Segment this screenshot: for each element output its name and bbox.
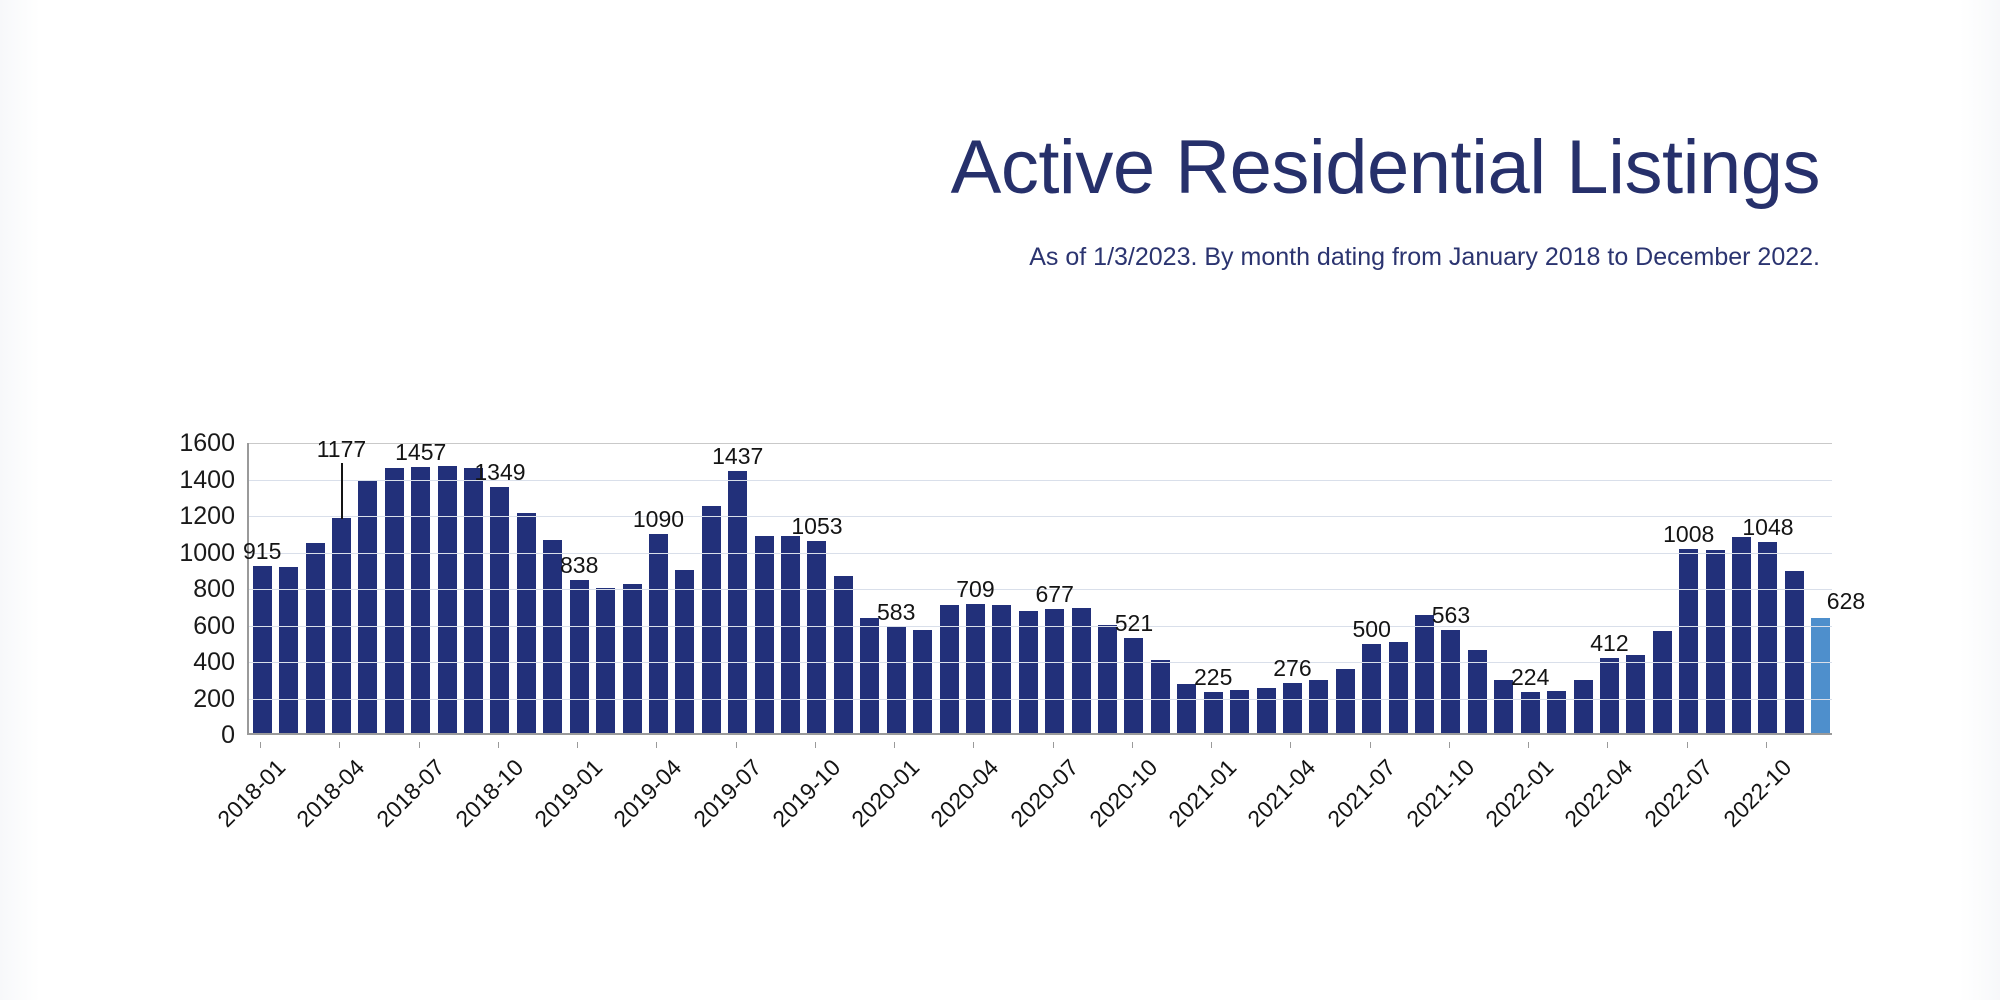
x-axis-tick-mark [973, 742, 974, 748]
x-axis-tick-label: 2022-04 [1560, 754, 1639, 833]
bar[interactable] [570, 580, 589, 733]
x-axis-tick-mark [1053, 742, 1054, 748]
bar[interactable] [913, 630, 932, 733]
bar[interactable] [1574, 680, 1593, 733]
bar-value-label: 500 [1353, 618, 1391, 641]
bar[interactable] [1415, 615, 1434, 733]
x-axis-tick-label: 2021-04 [1243, 754, 1322, 833]
x-axis-tick-label: 2021-01 [1164, 754, 1243, 833]
y-axis-tick-label: 800 [139, 577, 235, 602]
bar-value-label: 915 [243, 540, 281, 563]
bar[interactable] [411, 467, 430, 733]
x-axis-tick-label: 2020-01 [847, 754, 926, 833]
x-axis-tick-mark [1290, 742, 1291, 748]
bar-value-label: 1349 [474, 461, 525, 484]
y-axis-tick-label: 1000 [139, 541, 235, 566]
x-axis-tick-label: 2021-10 [1401, 754, 1480, 833]
bar[interactable] [755, 536, 774, 733]
bar[interactable] [1072, 608, 1091, 733]
bar[interactable] [438, 466, 457, 733]
x-axis-tick-mark [1370, 742, 1371, 748]
x-axis-tick-mark [419, 742, 420, 748]
x-axis-tick-label: 2019-10 [767, 754, 846, 833]
bar[interactable] [728, 471, 747, 733]
gridline [249, 553, 1832, 554]
y-axis-tick-label: 1600 [139, 431, 235, 456]
bar[interactable] [1706, 550, 1725, 733]
label-leader-line [341, 463, 343, 519]
bar-value-label: 563 [1432, 604, 1470, 627]
bar-value-label: 521 [1115, 612, 1153, 635]
x-axis-tick-label: 2018-07 [371, 754, 450, 833]
x-axis-tick-label: 2018-01 [213, 754, 292, 833]
bar-value-label: 412 [1590, 632, 1628, 655]
bar[interactable] [517, 513, 536, 733]
x-axis-tick-mark [577, 742, 578, 748]
bar[interactable] [1626, 655, 1645, 733]
x-axis-tick-mark [498, 742, 499, 748]
bar-highlighted[interactable] [1811, 618, 1830, 733]
bar[interactable] [596, 588, 615, 733]
x-axis-tick-mark [1687, 742, 1688, 748]
bar[interactable] [1124, 638, 1143, 733]
x-axis-tick-mark [339, 742, 340, 748]
gridline [249, 699, 1832, 700]
gridline [249, 443, 1832, 444]
x-axis-tick-label: 2022-07 [1639, 754, 1718, 833]
bar-value-label: 628 [1827, 590, 1865, 613]
gridline [249, 516, 1832, 517]
bar-value-label: 677 [1036, 583, 1074, 606]
bar[interactable] [649, 534, 668, 733]
bar[interactable] [1045, 609, 1064, 733]
bar[interactable] [279, 567, 298, 733]
x-axis-tick-label: 2022-10 [1718, 754, 1797, 833]
bar[interactable] [1441, 630, 1460, 733]
bar-value-label: 1008 [1663, 523, 1714, 546]
bar[interactable] [807, 541, 826, 733]
x-axis-tick-label: 2020-07 [1005, 754, 1084, 833]
x-axis-tick-mark [260, 742, 261, 748]
y-axis-tick-label: 1200 [139, 504, 235, 529]
gridline [249, 662, 1832, 663]
bar-value-label: 224 [1511, 666, 1549, 689]
bar-value-label: 276 [1273, 657, 1311, 680]
bar-value-label: 1457 [395, 441, 446, 464]
bar-value-label: 838 [560, 554, 598, 577]
bar[interactable] [834, 576, 853, 733]
bar-value-label: 225 [1194, 666, 1232, 689]
bar[interactable] [306, 543, 325, 733]
bar[interactable] [887, 627, 906, 733]
y-axis-tick-label: 400 [139, 650, 235, 675]
bar-value-label: 709 [956, 578, 994, 601]
x-axis-tick-label: 2019-01 [530, 754, 609, 833]
x-axis-tick-mark [815, 742, 816, 748]
bar[interactable] [385, 468, 404, 733]
x-axis-tick-label: 2019-04 [609, 754, 688, 833]
bar[interactable] [1679, 549, 1698, 733]
bar[interactable] [940, 605, 959, 733]
bar[interactable] [1600, 658, 1619, 733]
x-axis-tick-label: 2018-10 [450, 754, 529, 833]
bar[interactable] [860, 618, 879, 733]
bar[interactable] [675, 570, 694, 733]
bar[interactable] [1547, 691, 1566, 733]
x-axis-tick-mark [1211, 742, 1212, 748]
bar-value-label: 1177 [317, 438, 366, 461]
x-axis-tick-mark [894, 742, 895, 748]
x-axis-tick-label: 2020-10 [1084, 754, 1163, 833]
bar[interactable] [1758, 542, 1777, 733]
bar[interactable] [1019, 611, 1038, 733]
y-axis-tick-label: 0 [139, 723, 235, 748]
x-axis-tick-label: 2021-07 [1322, 754, 1401, 833]
bar-value-label: 1048 [1742, 516, 1793, 539]
x-axis-tick-label: 2020-04 [926, 754, 1005, 833]
bar[interactable] [1230, 690, 1249, 733]
gridline [249, 626, 1832, 627]
y-axis: 02004006008001000120014001600 [135, 443, 235, 735]
y-axis-tick-label: 600 [139, 614, 235, 639]
x-axis-tick-mark [1766, 742, 1767, 748]
x-axis-tick-mark [1449, 742, 1450, 748]
bar[interactable] [1309, 680, 1328, 733]
bar-value-label: 1437 [712, 445, 763, 468]
bar[interactable] [1177, 684, 1196, 733]
bar[interactable] [464, 468, 483, 733]
x-axis-tick-mark [1132, 742, 1133, 748]
x-axis-tick-mark [1528, 742, 1529, 748]
y-axis-tick-label: 1400 [139, 468, 235, 493]
bar[interactable] [1257, 688, 1276, 733]
bar[interactable] [253, 566, 272, 733]
chart-figure: 02004006008001000120014001600 9151177145… [0, 0, 2000, 1000]
bar[interactable] [992, 605, 1011, 733]
x-axis-tick-mark [656, 742, 657, 748]
bar-value-label: 583 [877, 601, 915, 624]
x-axis-tick-label: 2019-07 [688, 754, 767, 833]
bar[interactable] [1098, 625, 1117, 733]
bar[interactable] [623, 584, 642, 733]
bar[interactable] [1732, 537, 1751, 733]
x-axis-tick-label: 2022-01 [1481, 754, 1560, 833]
bar[interactable] [1362, 644, 1381, 733]
x-axis-tick-mark [736, 742, 737, 748]
bar-value-label: 1053 [791, 515, 842, 538]
bar[interactable] [1389, 642, 1408, 733]
bar[interactable] [358, 481, 377, 733]
bar[interactable] [1653, 631, 1672, 733]
plot-area: 9151177145713498381090143710535837096775… [247, 443, 1832, 735]
x-axis: 2018-012018-042018-072018-102019-012019-… [247, 742, 1832, 882]
bar[interactable] [1283, 683, 1302, 733]
bar-value-label: 1090 [633, 508, 684, 531]
bar[interactable] [490, 487, 509, 733]
bar[interactable] [1785, 571, 1804, 733]
bar[interactable] [1151, 660, 1170, 733]
y-axis-tick-label: 200 [139, 687, 235, 712]
x-axis-tick-mark [1607, 742, 1608, 748]
x-axis-tick-label: 2018-04 [292, 754, 371, 833]
bar[interactable] [781, 536, 800, 733]
bar[interactable] [1336, 669, 1355, 733]
bar[interactable] [966, 604, 985, 733]
